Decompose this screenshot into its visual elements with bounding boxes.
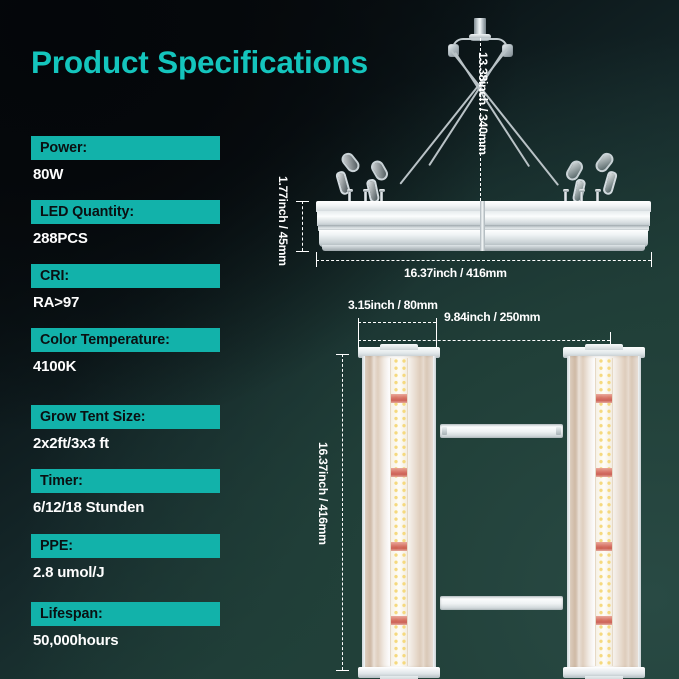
snap-hook-outer-right xyxy=(602,170,618,196)
bar-width-dimension-label: 3.15inch / 80mm xyxy=(348,298,438,312)
fixture-center-joint xyxy=(480,201,485,251)
spec-label: Lifespan: xyxy=(31,602,220,626)
led-strip xyxy=(390,358,408,666)
spec-row-lifespan: Lifespan: 50,000hours xyxy=(31,602,271,649)
fixture-height-dimension-line xyxy=(302,201,303,251)
spec-row-color-temperature: Color Temperature: 4100K xyxy=(31,328,271,375)
spec-label: Timer: xyxy=(31,469,220,493)
product-spec-infographic: Product Specifications Power: 80W LED Qu… xyxy=(0,0,679,679)
bar-length-tick-top xyxy=(336,354,349,355)
spec-label: Power: xyxy=(31,136,220,160)
spec-value: RA>97 xyxy=(31,294,271,311)
bar-highlight-left xyxy=(370,356,378,668)
spec-value: 4100K xyxy=(31,358,271,375)
bar-highlight-right xyxy=(625,356,632,668)
bar-width-tick-right xyxy=(436,318,437,350)
red-led-segment xyxy=(391,394,408,403)
bar-edge-right xyxy=(638,356,641,668)
led-fixture-side-view xyxy=(316,201,651,254)
spec-label: LED Quantity: xyxy=(31,200,220,224)
bar-length-dimension-line xyxy=(342,354,343,670)
red-led-segment xyxy=(391,542,408,551)
spec-value: 50,000hours xyxy=(31,632,271,649)
spec-row-cri: CRI: RA>97 xyxy=(31,264,271,311)
fixture-height-tick-bottom xyxy=(296,251,309,252)
fixture-width-dimension-line xyxy=(316,260,651,261)
led-bars-diagram: 3.15inch / 80mm 9.84inch / 250mm 16.37in… xyxy=(330,296,679,679)
spec-row-ppe: PPE: 2.8 umol/J xyxy=(31,534,271,581)
bar-highlight-right xyxy=(420,356,427,668)
spec-row-led-quantity: LED Quantity: 288PCS xyxy=(31,200,271,247)
bar-length-dimension-label: 16.37inch / 416mm xyxy=(316,442,330,545)
bar-spacing-dimension-label: 9.84inch / 250mm xyxy=(444,310,540,324)
led-bar-left xyxy=(362,356,436,668)
bar-spacing-dimension-line xyxy=(358,340,610,341)
spec-value: 288PCS xyxy=(31,230,271,247)
bar-width-tick-left xyxy=(358,318,359,350)
bar-end-cap-bottom xyxy=(563,667,645,678)
bar-highlight-left xyxy=(575,356,583,668)
spec-value: 2x2ft/3x3 ft xyxy=(31,435,271,452)
bar-width-dimension-line xyxy=(358,322,436,323)
specifications-panel: Product Specifications Power: 80W LED Qu… xyxy=(0,0,290,679)
fixture-height-tick-top xyxy=(296,201,309,202)
spec-label: Grow Tent Size: xyxy=(31,405,220,429)
red-led-segment xyxy=(596,468,613,477)
fixture-height-dimension-label: 1.77inch / 45mm xyxy=(276,176,290,266)
spec-label: Color Temperature: xyxy=(31,328,220,352)
bar-end-cap-bottom xyxy=(358,667,440,678)
connecting-crossbar-bottom xyxy=(440,596,563,610)
led-strip xyxy=(595,358,613,666)
spec-label: CRI: xyxy=(31,264,220,288)
red-led-segment xyxy=(391,616,408,625)
bar-edge-right xyxy=(433,356,436,668)
hang-height-dimension-label: 13.38inch / 340mm xyxy=(476,52,490,155)
spec-row-timer: Timer: 6/12/18 Stunden xyxy=(31,469,271,516)
spec-label: PPE: xyxy=(31,534,220,558)
hanging-fixture-diagram: 13.38inch / 340mm 1.77inch / 45mm 16.37i… xyxy=(276,8,679,293)
bar-edge-left xyxy=(362,356,365,668)
connecting-crossbar-top xyxy=(440,424,563,438)
red-led-segment xyxy=(391,468,408,477)
spec-value: 6/12/18 Stunden xyxy=(31,499,271,516)
spec-row-grow-tent-size: Grow Tent Size: 2x2ft/3x3 ft xyxy=(31,405,271,452)
bar-length-tick-bottom xyxy=(336,670,349,671)
fixture-width-dimension-label: 16.37inch / 416mm xyxy=(404,266,507,280)
bar-edge-left xyxy=(567,356,570,668)
spec-value: 80W xyxy=(31,166,271,183)
fixture-width-tick-left xyxy=(316,252,317,267)
spec-value: 2.8 umol/J xyxy=(31,564,271,581)
red-led-segment xyxy=(596,542,613,551)
spec-row-power: Power: 80W xyxy=(31,136,271,183)
red-led-segment xyxy=(596,616,613,625)
fixture-width-tick-right xyxy=(651,252,652,267)
red-led-segment xyxy=(596,394,613,403)
led-bar-right xyxy=(567,356,641,668)
